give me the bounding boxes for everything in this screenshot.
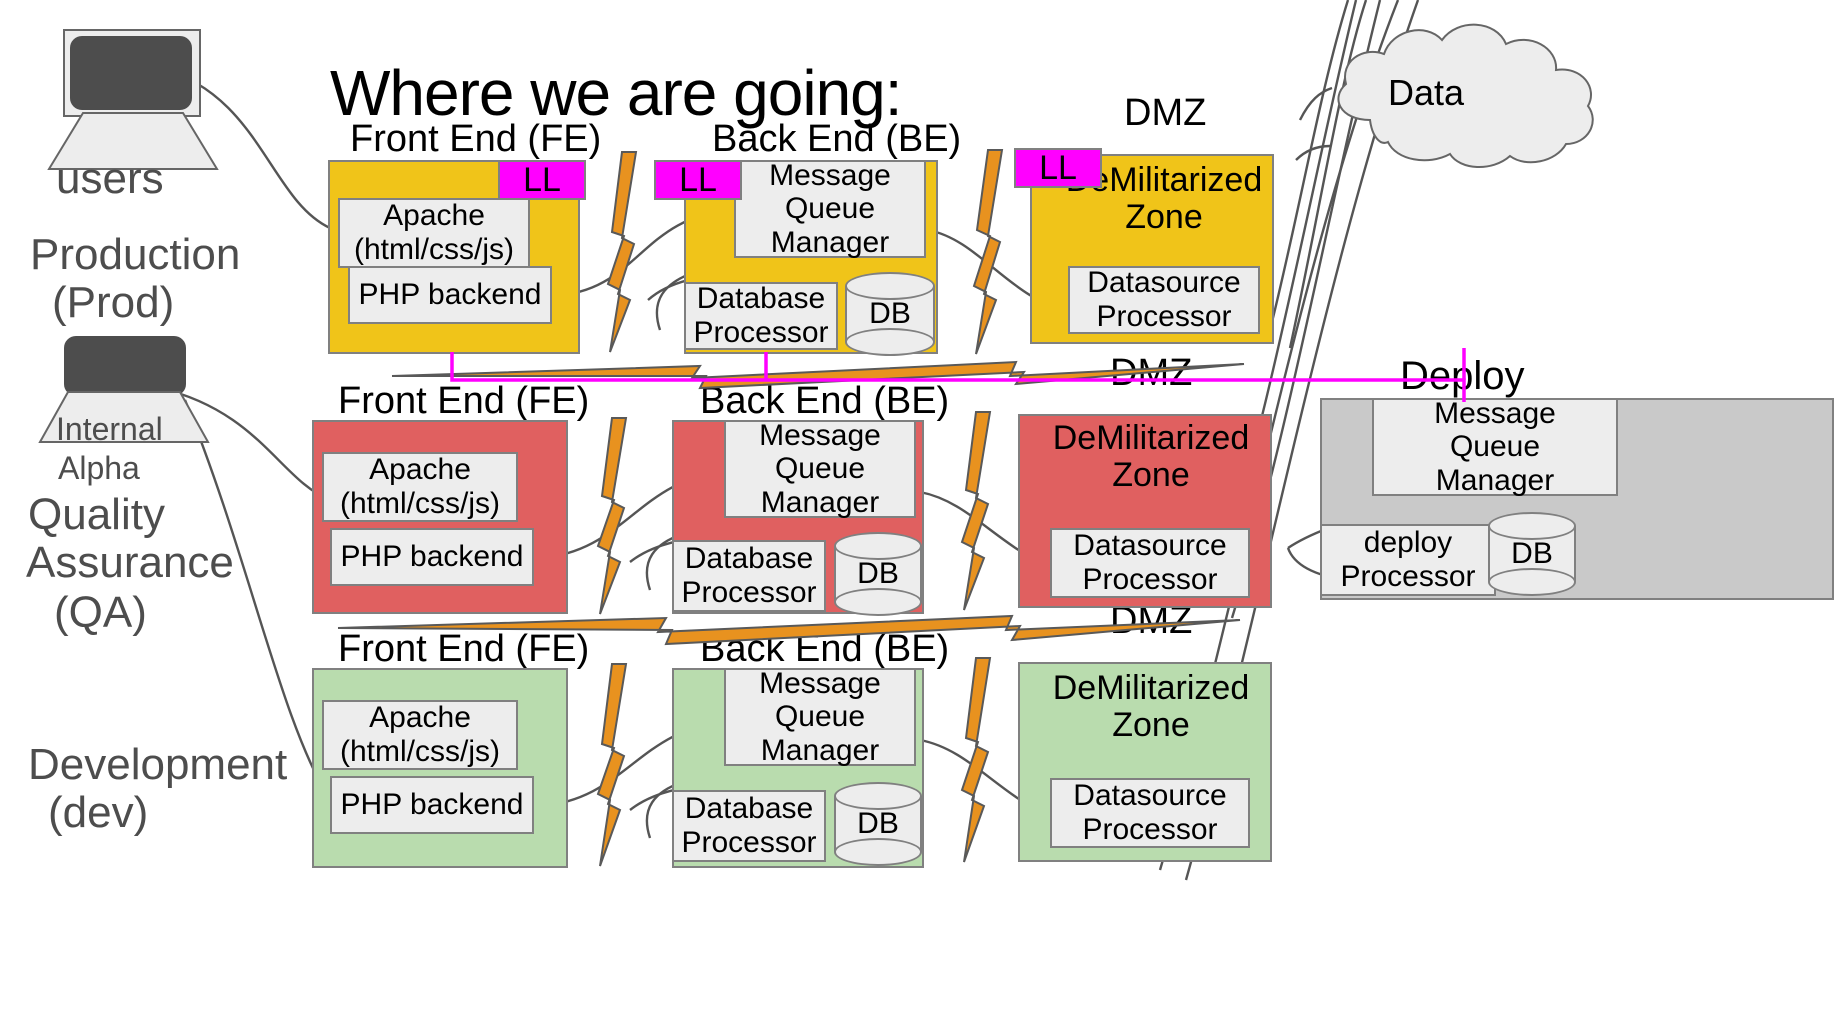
prod-db-label: DB — [845, 297, 935, 331]
deploy-route-lines — [0, 0, 1834, 1020]
dev-db-label: DB — [834, 807, 922, 841]
diagram-canvas: users Production (Prod) Internal Alpha Q… — [0, 0, 1834, 1020]
deploy-db-label: DB — [1488, 537, 1576, 571]
qa-db-label: DB — [834, 557, 922, 591]
